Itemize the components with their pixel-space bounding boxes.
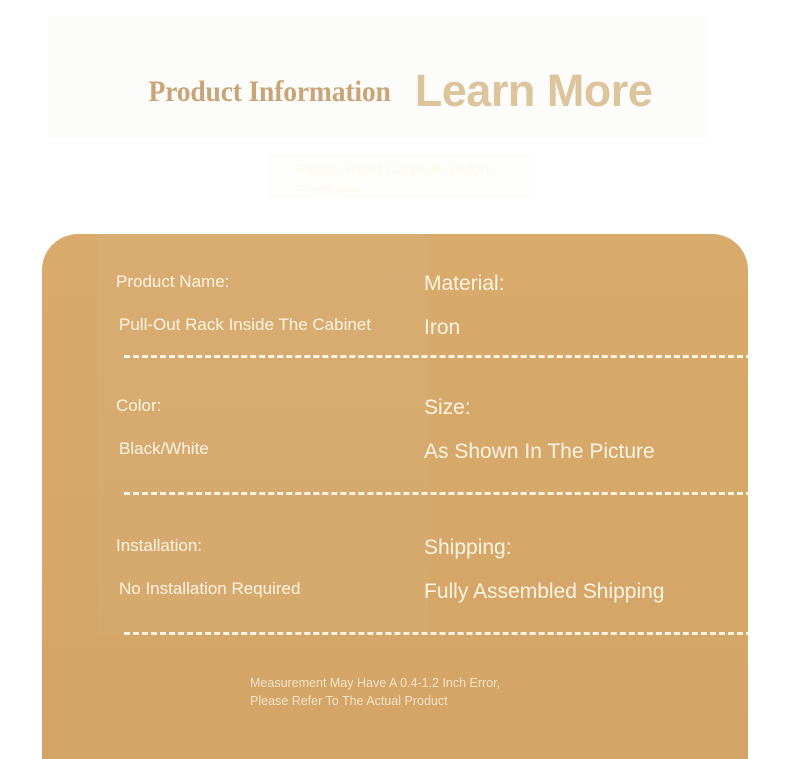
spec-row: Installation: No Installation Required S…	[42, 536, 748, 604]
spec-value: As Shown In The Picture	[424, 440, 748, 464]
spec-label: Color:	[116, 396, 368, 416]
spec-cell-installation: Installation: No Installation Required	[42, 536, 368, 604]
spec-label: Installation:	[116, 536, 368, 556]
subtitle-read-carefully: Please Read Carefully Before Purchase	[296, 159, 496, 201]
title-product-information: Product Information	[148, 75, 390, 109]
spec-value: Fully Assembled Shipping	[424, 580, 748, 604]
spec-row: Color: Black/White Size: As Shown In The…	[42, 396, 748, 464]
page-title: Product Information Learn More	[0, 60, 790, 130]
spec-cell-color: Color: Black/White	[42, 396, 368, 464]
spec-value: Iron	[424, 316, 748, 340]
spec-label: Product Name:	[116, 272, 368, 292]
spec-label: Shipping:	[424, 536, 748, 560]
spec-cell-material: Material: Iron	[368, 272, 748, 340]
header-section: Product Information Learn More Please Re…	[0, 0, 790, 234]
divider	[124, 355, 748, 358]
spec-label: Material:	[424, 272, 748, 296]
title-learn-more: Learn More	[415, 65, 653, 117]
spec-value: No Installation Required	[116, 579, 368, 599]
spec-value: Black/White	[116, 439, 368, 459]
spec-row: Product Name: Pull-Out Rack Inside The C…	[42, 272, 748, 340]
spec-value: Pull-Out Rack Inside The Cabinet	[116, 315, 368, 335]
spec-cell-shipping: Shipping: Fully Assembled Shipping	[368, 536, 748, 604]
divider	[124, 632, 748, 635]
spec-cell-size: Size: As Shown In The Picture	[368, 396, 748, 464]
measurement-disclaimer: Measurement May Have A 0.4-1.2 Inch Erro…	[250, 674, 540, 710]
spec-cell-product-name: Product Name: Pull-Out Rack Inside The C…	[42, 272, 368, 340]
divider	[124, 492, 748, 495]
spec-label: Size:	[424, 396, 748, 420]
